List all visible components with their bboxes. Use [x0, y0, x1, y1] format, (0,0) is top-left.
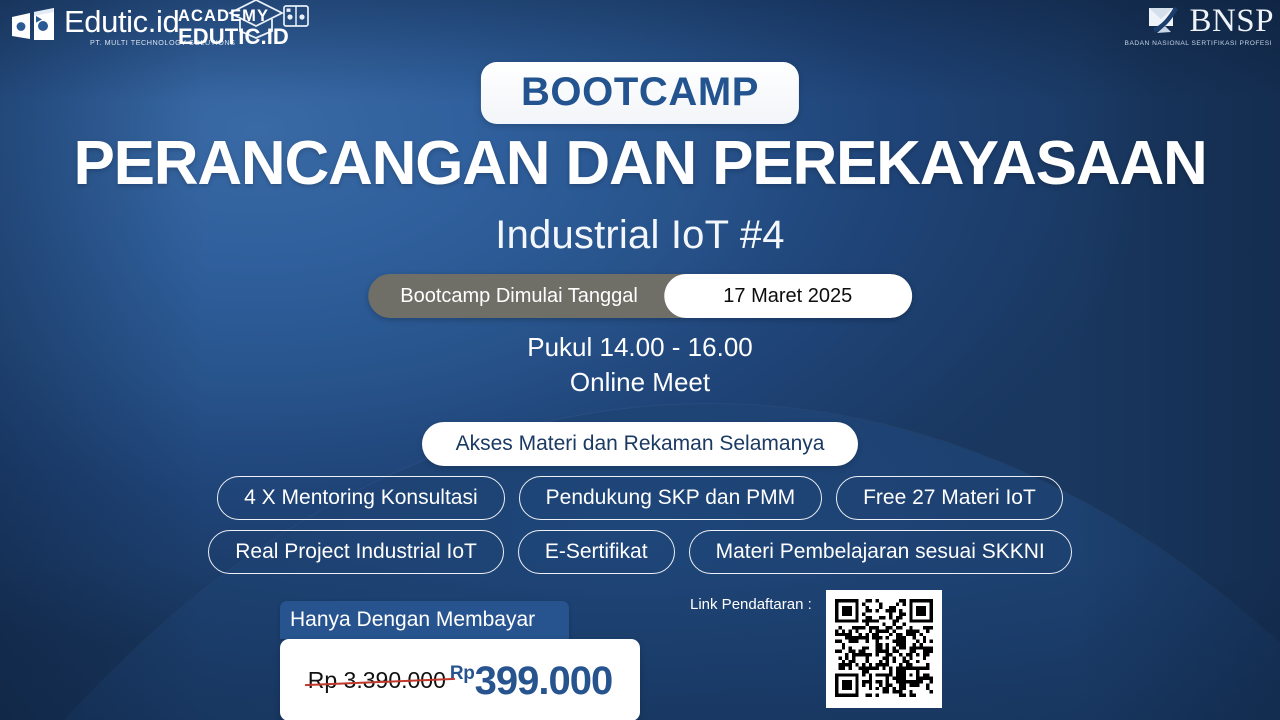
feature-list: Akses Materi dan Rekaman Selamanya 4 X M… [0, 422, 1280, 584]
qr-code-frame[interactable] [826, 590, 942, 708]
feature-row-2: 4 X Mentoring Konsultasi Pendukung SKP d… [0, 476, 1280, 520]
page-title: PERANCANGAN DAN PEREKAYASAAN [0, 131, 1280, 196]
feature-pill-highlight: Akses Materi dan Rekaman Selamanya [422, 422, 859, 466]
academy-logo-line2: EDUTIC.ID [178, 25, 289, 48]
feature-pill: E-Sertifikat [518, 530, 675, 574]
price-heading: Hanya Dengan Membayar [280, 601, 569, 639]
schedule-time: Pukul 14.00 - 16.00 [0, 330, 1280, 365]
bootcamp-badge-label: BOOTCAMP [521, 70, 759, 114]
currency-symbol: Rp [450, 663, 475, 685]
bnsp-tagline: BADAN NASIONAL SERTIFIKASI PROFESI [1125, 40, 1272, 47]
original-price: Rp 3.390.000 [308, 667, 446, 694]
start-date-label: Bootcamp Dimulai Tanggal [368, 274, 664, 318]
schedule-mode: Online Meet [0, 365, 1280, 400]
feature-row-3: Real Project Industrial IoT E-Sertifikat… [0, 530, 1280, 574]
feature-pill: Free 27 Materi IoT [836, 476, 1063, 520]
discounted-price: Rp 399.000 [450, 659, 612, 701]
start-date-value: 17 Maret 2025 [664, 274, 912, 318]
price-card: Hanya Dengan Membayar Rp 3.390.000 Rp 39… [280, 601, 640, 720]
promo-poster: Edutic.id PT. MULTI TECHNOLOGY SOLUTIONS… [0, 0, 1280, 720]
schedule-time-block: Pukul 14.00 - 16.00 Online Meet [0, 330, 1280, 399]
start-date-pill: Bootcamp Dimulai Tanggal 17 Maret 2025 [368, 274, 912, 318]
feature-pill: Real Project Industrial IoT [208, 530, 504, 574]
feature-pill: Materi Pembelajaran sesuai SKKNI [689, 530, 1072, 574]
edutic-box-icon [8, 6, 60, 46]
price-amount: 399.000 [475, 661, 613, 701]
feature-pill: 4 X Mentoring Konsultasi [217, 476, 504, 520]
bnsp-checkmark-icon [1145, 4, 1185, 38]
price-values: Rp 3.390.000 Rp 399.000 [280, 639, 640, 720]
academy-logo-line1: ACADEMY [178, 8, 289, 25]
header-logo-bar: Edutic.id PT. MULTI TECHNOLOGY SOLUTIONS… [0, 0, 1280, 62]
feature-row-highlight: Akses Materi dan Rekaman Selamanya [0, 422, 1280, 466]
registration-label: Link Pendaftaran : [690, 596, 812, 613]
bnsp-logo: BNSP BADAN NASIONAL SERTIFIKASI PROFESI [1125, 4, 1274, 47]
feature-pill: Pendukung SKP dan PMM [519, 476, 822, 520]
registration-link-block: Link Pendaftaran : [690, 590, 942, 708]
qr-code[interactable] [835, 599, 933, 697]
bnsp-acronym: BNSP [1189, 5, 1274, 38]
page-subtitle: Industrial IoT #4 [0, 213, 1280, 258]
academy-edutic-logo: ACADEMY EDUTIC.ID [178, 8, 289, 48]
bootcamp-badge: BOOTCAMP [481, 62, 799, 124]
